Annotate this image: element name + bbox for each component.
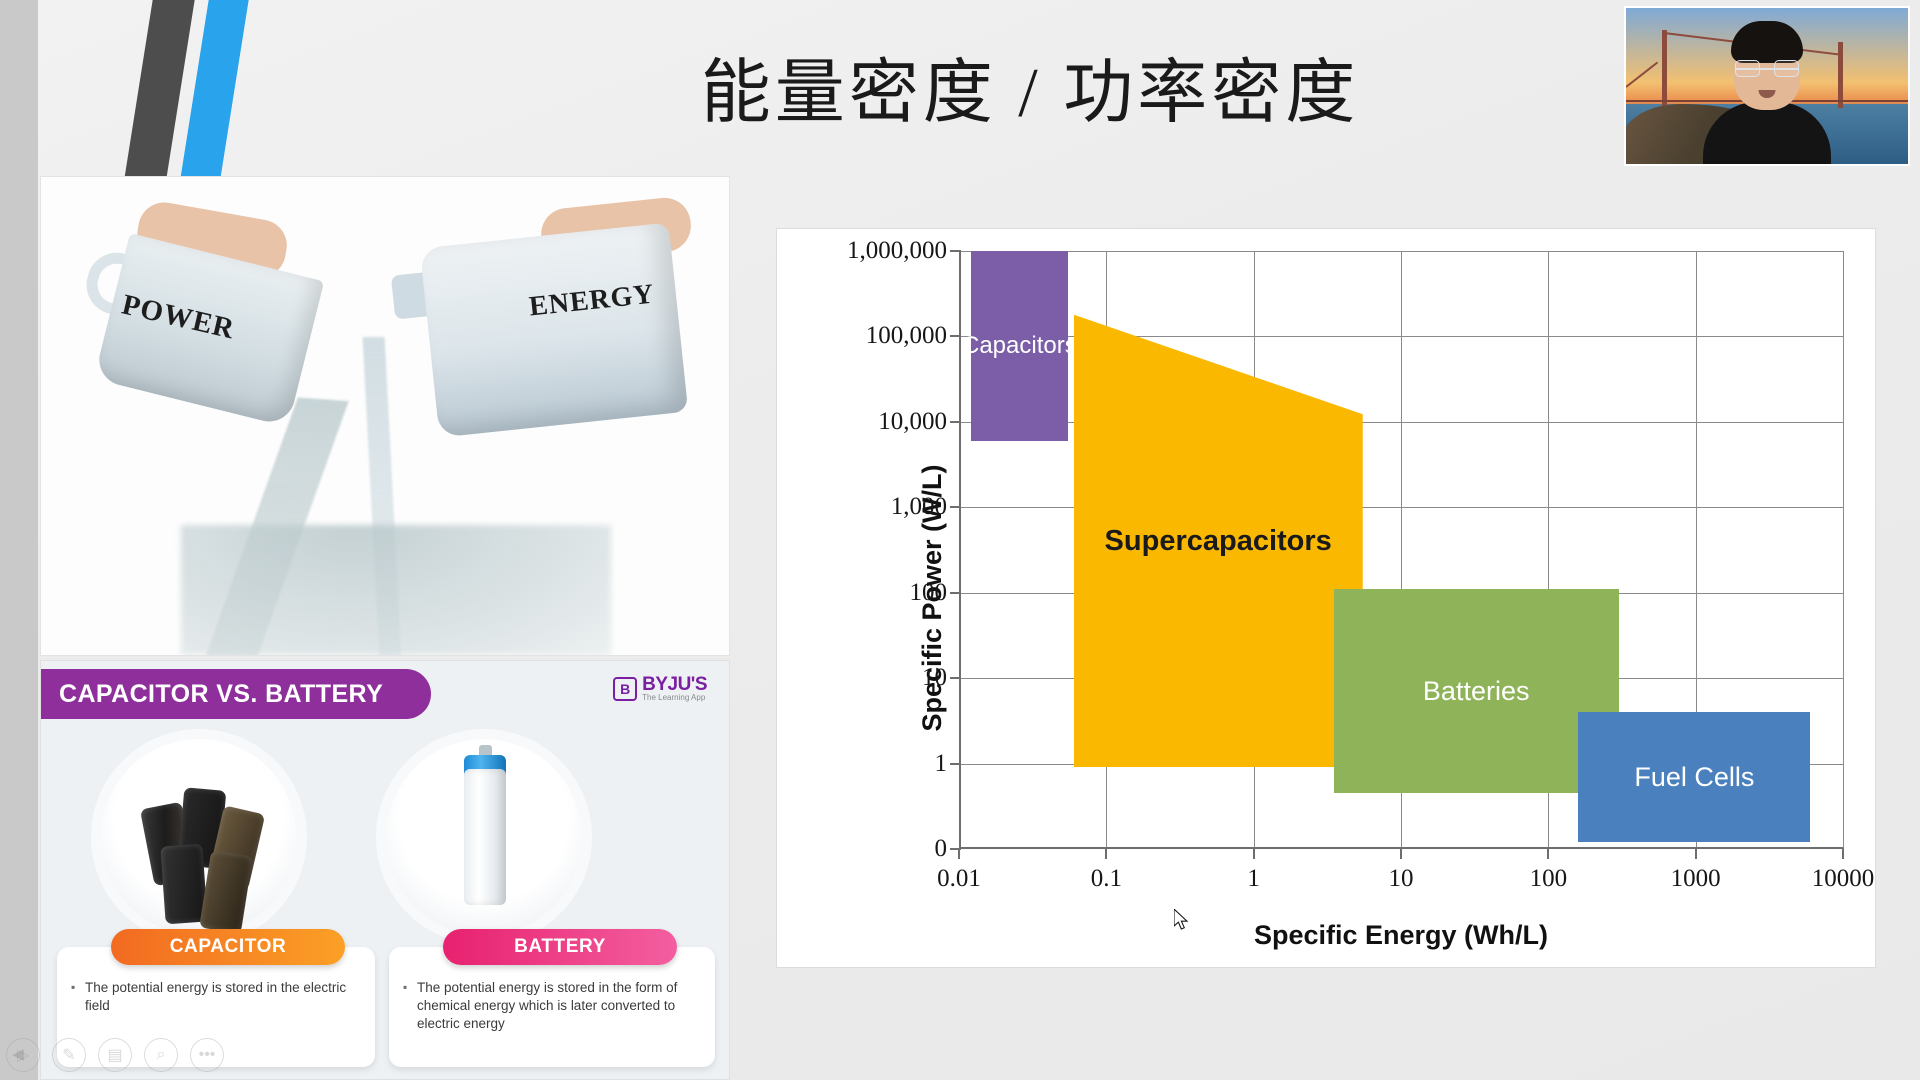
capacitor-bullet-text: The potential energy is stored in the el… xyxy=(71,979,363,1015)
byjus-name: BYJU'S xyxy=(642,675,707,694)
chart-y-tick-label: 0 xyxy=(935,835,948,863)
chart-x-tick-label: 100 xyxy=(1530,865,1568,893)
battery-body xyxy=(464,769,506,905)
glasses-bridge xyxy=(1735,68,1799,70)
bridge-cable-left xyxy=(1625,62,1658,88)
presenter-webcam[interactable] xyxy=(1624,6,1910,166)
infographic-banner: CAPACITOR VS. BATTERY xyxy=(41,669,431,719)
chart-x-tick-mark xyxy=(1253,848,1255,859)
chart-x-tick-label: 1000 xyxy=(1671,865,1721,893)
chart-x-tick-mark xyxy=(958,848,960,859)
slide-left-gutter xyxy=(0,0,38,1080)
chart-gridline-vertical xyxy=(1843,251,1844,849)
capacitor-photo-circle xyxy=(101,739,297,935)
slide-title: 能量密度 / 功率密度 xyxy=(640,36,1420,137)
decorative-stripe-blue xyxy=(180,0,252,180)
more-options-icon[interactable]: ••• xyxy=(190,1038,224,1072)
presenter-glasses-icon xyxy=(1735,60,1799,77)
chart-region-fuel-cells: Fuel Cells xyxy=(1578,712,1810,842)
chart-plot-area: 01101001,00010,000100,0001,000,0000.010.… xyxy=(959,251,1843,849)
chart-x-tick-mark xyxy=(1400,848,1402,859)
battery-pill-label: BATTERY xyxy=(443,929,677,965)
chart-region-label: Fuel Cells xyxy=(1634,762,1754,793)
chart-x-tick-mark xyxy=(1842,848,1844,859)
byjus-wordmark: BYJU'S The Learning App xyxy=(642,675,707,702)
battery-info-card: BATTERY The potential energy is stored i… xyxy=(389,947,715,1067)
chart-x-tick-mark xyxy=(1105,848,1107,859)
water-pool xyxy=(181,525,611,655)
chart-x-tick-label: 0.01 xyxy=(937,865,981,893)
byjus-tagline: The Learning App xyxy=(642,694,707,702)
chart-y-tick-label: 100,000 xyxy=(866,322,947,350)
zoom-icon[interactable]: ⌕ xyxy=(144,1038,178,1072)
chart-region-supercapacitors: Supercapacitors xyxy=(1074,315,1363,768)
chart-y-tick-label: 1,000 xyxy=(891,493,947,521)
chart-region-capacitors: Capacitors xyxy=(971,251,1068,441)
battery-bullet-text: The potential energy is stored in the fo… xyxy=(403,979,703,1034)
chart-region-label: Batteries xyxy=(1423,676,1530,707)
bridge-tower-left xyxy=(1662,30,1667,108)
capacitor-vs-battery-image: CAPACITOR VS. BATTERY B BYJU'S The Learn… xyxy=(40,660,730,1080)
bridge-tower-right xyxy=(1838,42,1843,108)
chart-x-tick-label: 0.1 xyxy=(1091,865,1122,893)
ragone-chart: Specific Power (W/L) Specific Energy (Wh… xyxy=(776,228,1876,968)
chart-x-tick-label: 10000 xyxy=(1812,865,1875,893)
chart-x-tick-label: 10 xyxy=(1389,865,1414,893)
chart-x-axis-title: Specific Energy (Wh/L) xyxy=(959,920,1843,951)
chart-y-tick-label: 1,000,000 xyxy=(847,237,947,265)
power-vs-energy-image: POWER ENERGY xyxy=(40,176,730,656)
byjus-logo: B BYJU'S The Learning App xyxy=(613,675,707,702)
chart-region-label: Capacitors xyxy=(962,332,1077,360)
power-energy-illustration: POWER ENERGY xyxy=(41,177,729,655)
energy-jug xyxy=(420,222,688,437)
chart-x-tick-mark xyxy=(1695,848,1697,859)
pen-icon[interactable]: ✎ xyxy=(52,1038,86,1072)
battery-photo-circle xyxy=(386,739,582,935)
chart-y-tick-label: 100 xyxy=(910,579,948,607)
chart-y-tick-label: 10 xyxy=(922,664,947,692)
chart-x-tick-label: 1 xyxy=(1247,865,1260,893)
presenter-hair xyxy=(1731,21,1803,63)
chart-y-tick-label: 1 xyxy=(935,750,948,778)
screen: 能量密度 / 功率密度 POWER ENERGY CAPACITOR VS. B… xyxy=(0,0,1920,1080)
slideshow-toolbar[interactable]: ▷ ✎ ▤ ⌕ ••• xyxy=(6,1038,224,1072)
byjus-mark-icon: B xyxy=(613,677,637,701)
chart-y-tick-label: 10,000 xyxy=(878,408,947,436)
chart-region-label: Supercapacitors xyxy=(1105,525,1332,558)
chart-x-axis xyxy=(959,847,1843,849)
slides-grid-icon[interactable]: ▤ xyxy=(98,1038,132,1072)
chart-x-tick-mark xyxy=(1547,848,1549,859)
chart-region-batteries: Batteries xyxy=(1334,589,1619,793)
capacitor-pill-label: CAPACITOR xyxy=(111,929,345,965)
infographic-banner-title: CAPACITOR VS. BATTERY xyxy=(41,680,383,709)
play-icon[interactable]: ▷ xyxy=(6,1038,40,1072)
chart-y-axis xyxy=(959,251,961,849)
